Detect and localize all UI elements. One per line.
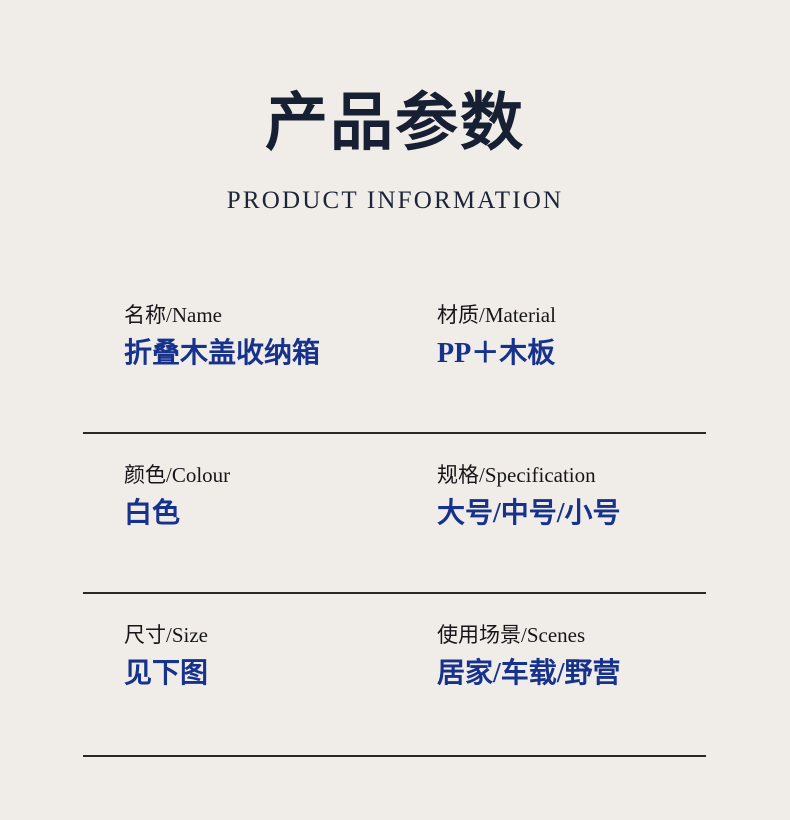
divider [83, 755, 706, 757]
spec-value: 见下图 [124, 654, 424, 694]
spec-table: 名称/Name 折叠木盖收纳箱 材质/Material PP＋木板 颜色/Col… [0, 0, 790, 820]
spec-cell-material: 材质/Material PP＋木板 [437, 300, 737, 374]
spec-row: 名称/Name 折叠木盖收纳箱 材质/Material PP＋木板 [0, 300, 790, 460]
product-information-page: 产品参数 PRODUCT INFORMATION 名称/Name 折叠木盖收纳箱… [0, 0, 790, 820]
spec-label: 名称/Name [124, 300, 424, 330]
spec-cell-scenes: 使用场景/Scenes 居家/车载/野营 [437, 620, 737, 694]
spec-value: 居家/车载/野营 [437, 654, 737, 694]
spec-value: 白色 [124, 494, 424, 534]
spec-label: 尺寸/Size [124, 620, 424, 650]
divider [83, 432, 706, 434]
spec-cell-colour: 颜色/Colour 白色 [124, 460, 424, 534]
spec-cell-specification: 规格/Specification 大号/中号/小号 [437, 460, 737, 534]
spec-row: 颜色/Colour 白色 规格/Specification 大号/中号/小号 [0, 460, 790, 620]
spec-value: 大号/中号/小号 [437, 494, 737, 534]
spec-label: 使用场景/Scenes [437, 620, 737, 650]
spec-label: 规格/Specification [437, 460, 737, 490]
spec-cell-size: 尺寸/Size 见下图 [124, 620, 424, 694]
spec-value: 折叠木盖收纳箱 [124, 334, 424, 374]
divider [83, 592, 706, 594]
spec-label: 材质/Material [437, 300, 737, 330]
spec-value: PP＋木板 [437, 334, 737, 374]
spec-cell-name: 名称/Name 折叠木盖收纳箱 [124, 300, 424, 374]
spec-label: 颜色/Colour [124, 460, 424, 490]
